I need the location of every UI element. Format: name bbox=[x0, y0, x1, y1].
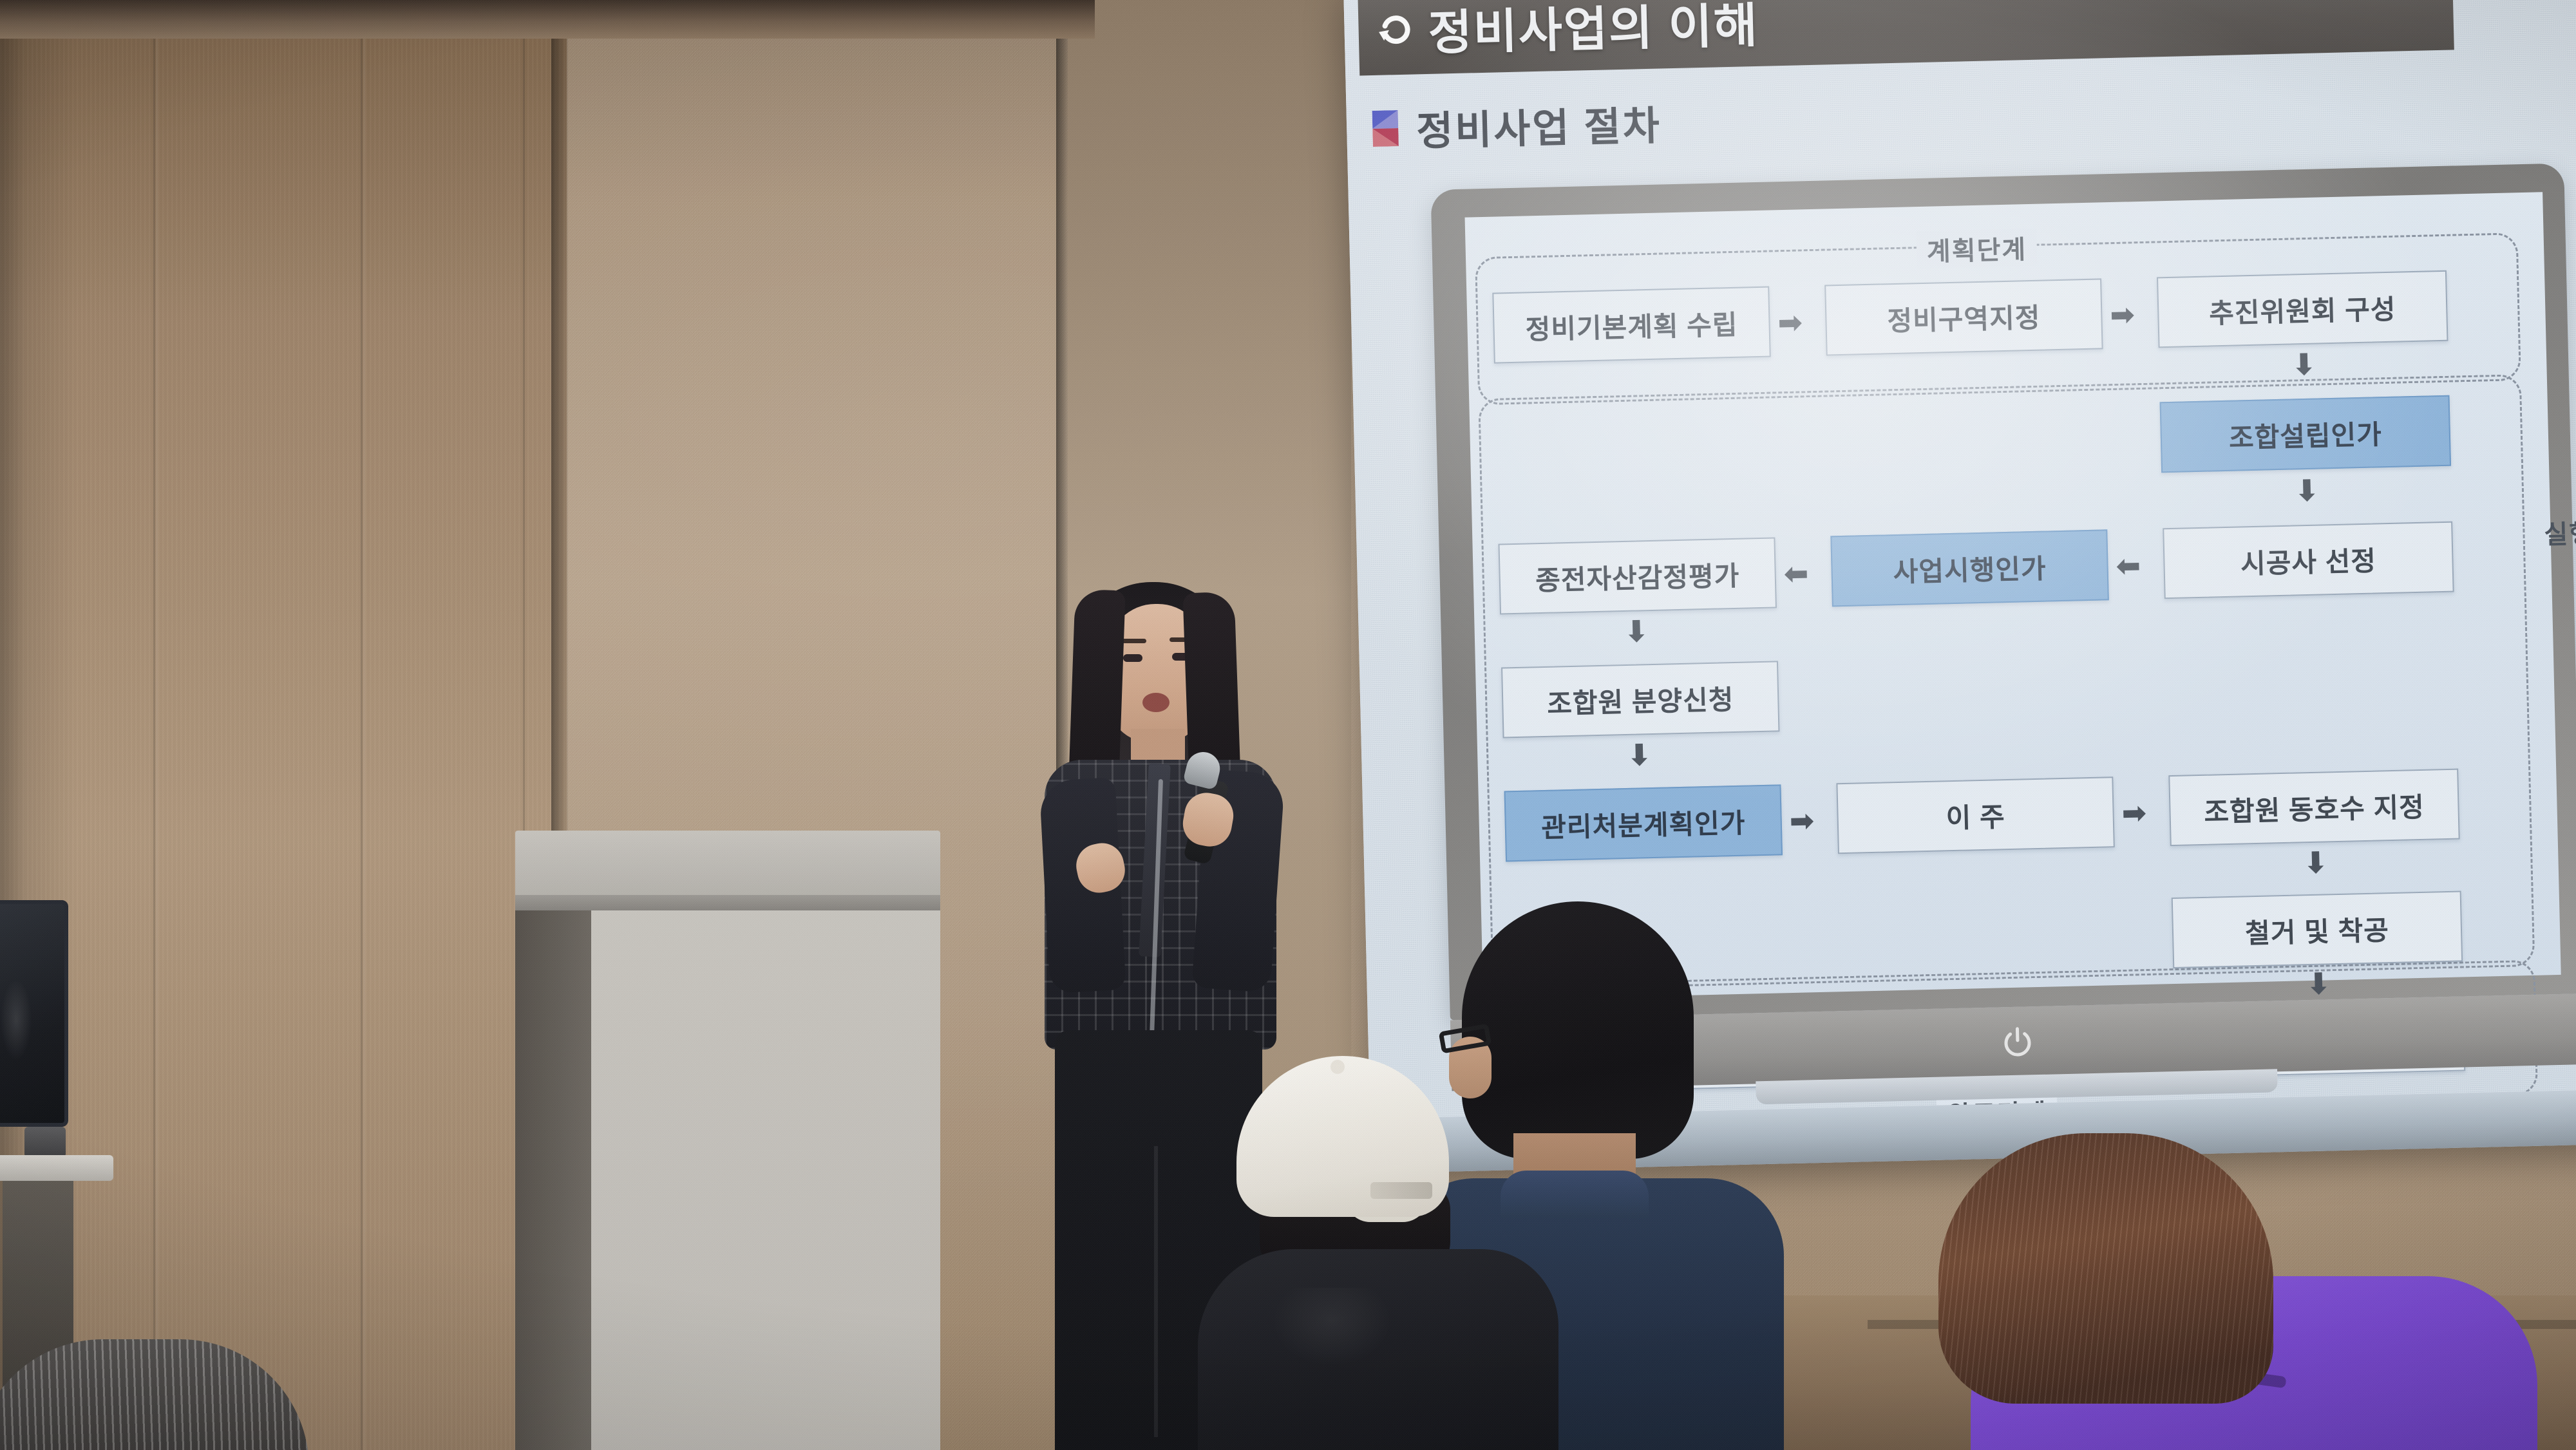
flow-arrow-n7-n6: ⬅ bbox=[2116, 551, 2141, 581]
side-monitor-screen bbox=[0, 900, 68, 1127]
monitor-graphic: 계획단계 실행단계 완료단계 정비기본계획 수립 ➡ 정비구역지정 ➡ 추진위원… bbox=[1431, 163, 2576, 1020]
jacket-highlight bbox=[1275, 1288, 1417, 1397]
audience-member-gray-hair bbox=[0, 1339, 309, 1450]
podium bbox=[515, 831, 940, 1450]
podium-front-panel bbox=[591, 908, 940, 1450]
screen-glare bbox=[1, 981, 39, 1078]
process-flowchart: 계획단계 실행단계 완료단계 정비기본계획 수립 ➡ 정비구역지정 ➡ 추진위원… bbox=[1465, 192, 2561, 1000]
audience-member-white-cap bbox=[1198, 1056, 1558, 1450]
podium-top-surface bbox=[515, 831, 940, 903]
flow-arrow-n4-n7: ⬇ bbox=[2294, 476, 2320, 506]
flow-node-n10: 이 주 bbox=[1836, 777, 2114, 854]
podium-top-edge bbox=[515, 895, 940, 910]
flow-arrow-n11-n12: ⬇ bbox=[2303, 847, 2329, 878]
flow-arrow-n8-n9: ⬇ bbox=[1627, 740, 1653, 770]
circular-arrow-icon bbox=[1378, 11, 1414, 48]
flow-arrow-n2-n3: ➡ bbox=[2110, 299, 2136, 330]
trouser-seam bbox=[1154, 1146, 1158, 1437]
flow-node-n8: 조합원 분양신청 bbox=[1501, 661, 1779, 738]
blue-red-diamond-bullet-icon bbox=[1372, 110, 1399, 147]
presenter-mouth bbox=[1142, 693, 1170, 712]
slide-subtitle: 정비사업 절차 bbox=[1416, 93, 1662, 156]
podium-side-panel bbox=[515, 843, 594, 1450]
flow-node-n6: 사업시행인가 bbox=[1830, 529, 2108, 607]
flow-arrow-n5-n8: ⬇ bbox=[1624, 616, 1649, 646]
flow-node-n3: 추진위원회 구성 bbox=[2157, 270, 2448, 348]
flow-node-n4: 조합설립인가 bbox=[2160, 395, 2451, 473]
flow-node-n9: 관리처분계획인가 bbox=[1504, 784, 1783, 862]
flow-node-n2: 정비구역지정 bbox=[1824, 278, 2103, 355]
flow-arrow-n12-n15: ⬇ bbox=[2306, 968, 2331, 999]
stage-label-planning: 계획단계 bbox=[1916, 229, 2038, 268]
monitor-graphic-screen: 계획단계 실행단계 완료단계 정비기본계획 수립 ➡ 정비구역지정 ➡ 추진위원… bbox=[1465, 192, 2561, 1000]
audience-member-purple-jacket bbox=[1932, 1133, 2576, 1450]
flow-arrow-n9-n10: ➡ bbox=[1789, 805, 1815, 836]
slide-subtitle-row: 정비사업 절차 bbox=[1372, 93, 1662, 158]
flow-arrow-n6-n5: ⬅ bbox=[1783, 558, 1809, 588]
flow-node-n5: 종전자산감정평가 bbox=[1498, 537, 1776, 614]
stage-label-execution: 실행단계 bbox=[2533, 511, 2576, 551]
audience-hair bbox=[0, 1339, 309, 1450]
flow-arrow-n10-n11: ➡ bbox=[2121, 798, 2147, 828]
flow-node-n11: 조합원 동호수 지정 bbox=[2168, 769, 2459, 847]
cap-button bbox=[1331, 1060, 1345, 1074]
audience-hair-strands bbox=[1938, 1133, 2273, 1404]
flow-node-n7: 시공사 선정 bbox=[2163, 522, 2454, 599]
flow-arrow-n3-n4: ⬇ bbox=[2291, 350, 2317, 380]
slide-title: 정비사업의 이해 bbox=[1427, 0, 1759, 63]
monitor-stand-base bbox=[0, 1155, 113, 1181]
flow-arrow-n1-n2: ➡ bbox=[1777, 307, 1803, 337]
power-icon bbox=[2000, 1024, 2035, 1060]
side-monitor bbox=[0, 900, 139, 1235]
flow-node-n1: 정비기본계획 수립 bbox=[1492, 287, 1770, 364]
ceiling-shadow bbox=[0, 0, 1095, 39]
cap-strap bbox=[1370, 1182, 1432, 1199]
monitor-stand-neck bbox=[24, 1127, 66, 1158]
flow-node-n12: 철거 및 착공 bbox=[2172, 890, 2463, 968]
photo-scene: 정비사업의 이해 정비사업 절차 bbox=[0, 0, 2576, 1450]
